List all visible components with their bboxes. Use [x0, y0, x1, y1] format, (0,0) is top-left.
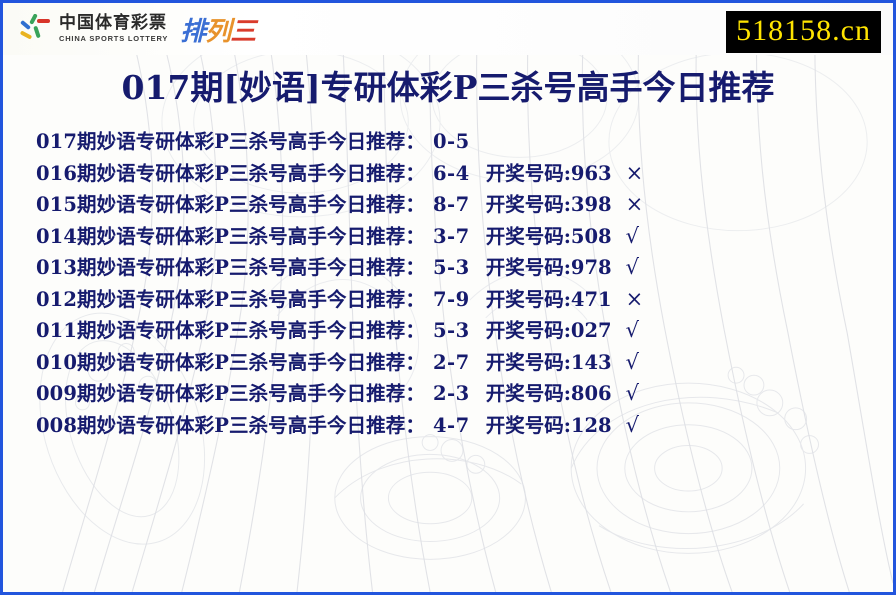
row-label: 010期妙语专研体彩P三杀号高手今日推荐： [36, 348, 425, 379]
list-item: 012期妙语专研体彩P三杀号高手今日推荐： 7-9 开奖号码:471 × [36, 284, 893, 316]
game-name-char-3: 三 [230, 17, 255, 47]
row-hit-mark: × [626, 189, 644, 220]
row-draw-result: 开奖号码:471 [486, 285, 612, 316]
row-draw-result: 开奖号码:978 [486, 253, 612, 284]
row-label: 017期妙语专研体彩P三杀号高手今日推荐： [36, 127, 425, 158]
row-kill-numbers: 2-3 [433, 379, 470, 410]
row-draw-result: 开奖号码:806 [486, 379, 612, 410]
row-hit-mark: √ [626, 221, 639, 252]
row-label: 015期妙语专研体彩P三杀号高手今日推荐： [36, 190, 425, 221]
row-label: 014期妙语专研体彩P三杀号高手今日推荐： [36, 222, 425, 253]
brand-name-block: 中国体育彩票 CHINA SPORTS LOTTERY [59, 15, 168, 43]
list-item: 008期妙语专研体彩P三杀号高手今日推荐： 4-7 开奖号码:128 √ [36, 410, 893, 442]
row-kill-numbers: 6-4 [433, 159, 470, 190]
row-draw-result: 开奖号码:143 [486, 348, 612, 379]
list-item: 009期妙语专研体彩P三杀号高手今日推荐： 2-3 开奖号码:806 √ [36, 378, 893, 410]
brand-name-zh: 中国体育彩票 [59, 15, 168, 32]
row-hit-mark: √ [626, 347, 639, 378]
lottery-page: 中国体育彩票 CHINA SPORTS LOTTERY 排列三 518158.c… [0, 0, 896, 595]
row-kill-numbers: 0-5 [433, 127, 470, 158]
row-draw-result: 开奖号码:963 [486, 159, 612, 190]
row-hit-mark: √ [626, 378, 639, 409]
row-hit-mark: √ [626, 410, 639, 441]
page-title: 017期[妙语]专研体彩P三杀号高手今日推荐 [3, 61, 893, 109]
sports-lottery-emblem-icon [19, 14, 53, 44]
list-item: 013期妙语专研体彩P三杀号高手今日推荐： 5-3 开奖号码:978 √ [36, 252, 893, 284]
row-kill-numbers: 8-7 [433, 190, 470, 221]
list-item: 010期妙语专研体彩P三杀号高手今日推荐： 2-7 开奖号码:143 √ [36, 347, 893, 379]
site-watermark: 518158.cn [726, 11, 881, 53]
forecast-list: 017期妙语专研体彩P三杀号高手今日推荐： 0-5 016期妙语专研体彩P三杀号… [3, 127, 893, 441]
game-name-pailie3: 排列三 [180, 11, 255, 48]
row-hit-mark: × [626, 284, 644, 315]
row-kill-numbers: 5-3 [433, 253, 470, 284]
brand-name-en: CHINA SPORTS LOTTERY [59, 35, 168, 43]
row-label: 009期妙语专研体彩P三杀号高手今日推荐： [36, 379, 425, 410]
row-draw-result: 开奖号码:508 [486, 222, 612, 253]
row-hit-mark: √ [626, 315, 639, 346]
row-hit-mark: × [626, 158, 644, 189]
row-draw-result: 开奖号码:027 [486, 316, 612, 347]
row-draw-result: 开奖号码:398 [486, 190, 612, 221]
site-header: 中国体育彩票 CHINA SPORTS LOTTERY 排列三 518158.c… [3, 3, 893, 55]
row-kill-numbers: 4-7 [433, 411, 470, 442]
list-item: 015期妙语专研体彩P三杀号高手今日推荐： 8-7 开奖号码:398 × [36, 189, 893, 221]
row-kill-numbers: 7-9 [433, 285, 470, 316]
row-hit-mark: √ [626, 252, 639, 283]
row-label: 008期妙语专研体彩P三杀号高手今日推荐： [36, 411, 425, 442]
row-label: 013期妙语专研体彩P三杀号高手今日推荐： [36, 253, 425, 284]
brand-logo: 中国体育彩票 CHINA SPORTS LOTTERY 排列三 [3, 11, 255, 48]
row-label: 012期妙语专研体彩P三杀号高手今日推荐： [36, 285, 425, 316]
row-kill-numbers: 2-7 [433, 348, 470, 379]
list-item: 011期妙语专研体彩P三杀号高手今日推荐： 5-3 开奖号码:027 √ [36, 315, 893, 347]
row-kill-numbers: 3-7 [433, 222, 470, 253]
game-name-char-2: 列 [205, 17, 230, 47]
list-item: 017期妙语专研体彩P三杀号高手今日推荐： 0-5 [36, 127, 893, 158]
row-label: 011期妙语专研体彩P三杀号高手今日推荐： [36, 316, 425, 347]
game-name-char-1: 排 [180, 17, 205, 47]
row-label: 016期妙语专研体彩P三杀号高手今日推荐： [36, 159, 425, 190]
row-kill-numbers: 5-3 [433, 316, 470, 347]
list-item: 014期妙语专研体彩P三杀号高手今日推荐： 3-7 开奖号码:508 √ [36, 221, 893, 253]
row-draw-result: 开奖号码:128 [486, 411, 612, 442]
list-item: 016期妙语专研体彩P三杀号高手今日推荐： 6-4 开奖号码:963 × [36, 158, 893, 190]
